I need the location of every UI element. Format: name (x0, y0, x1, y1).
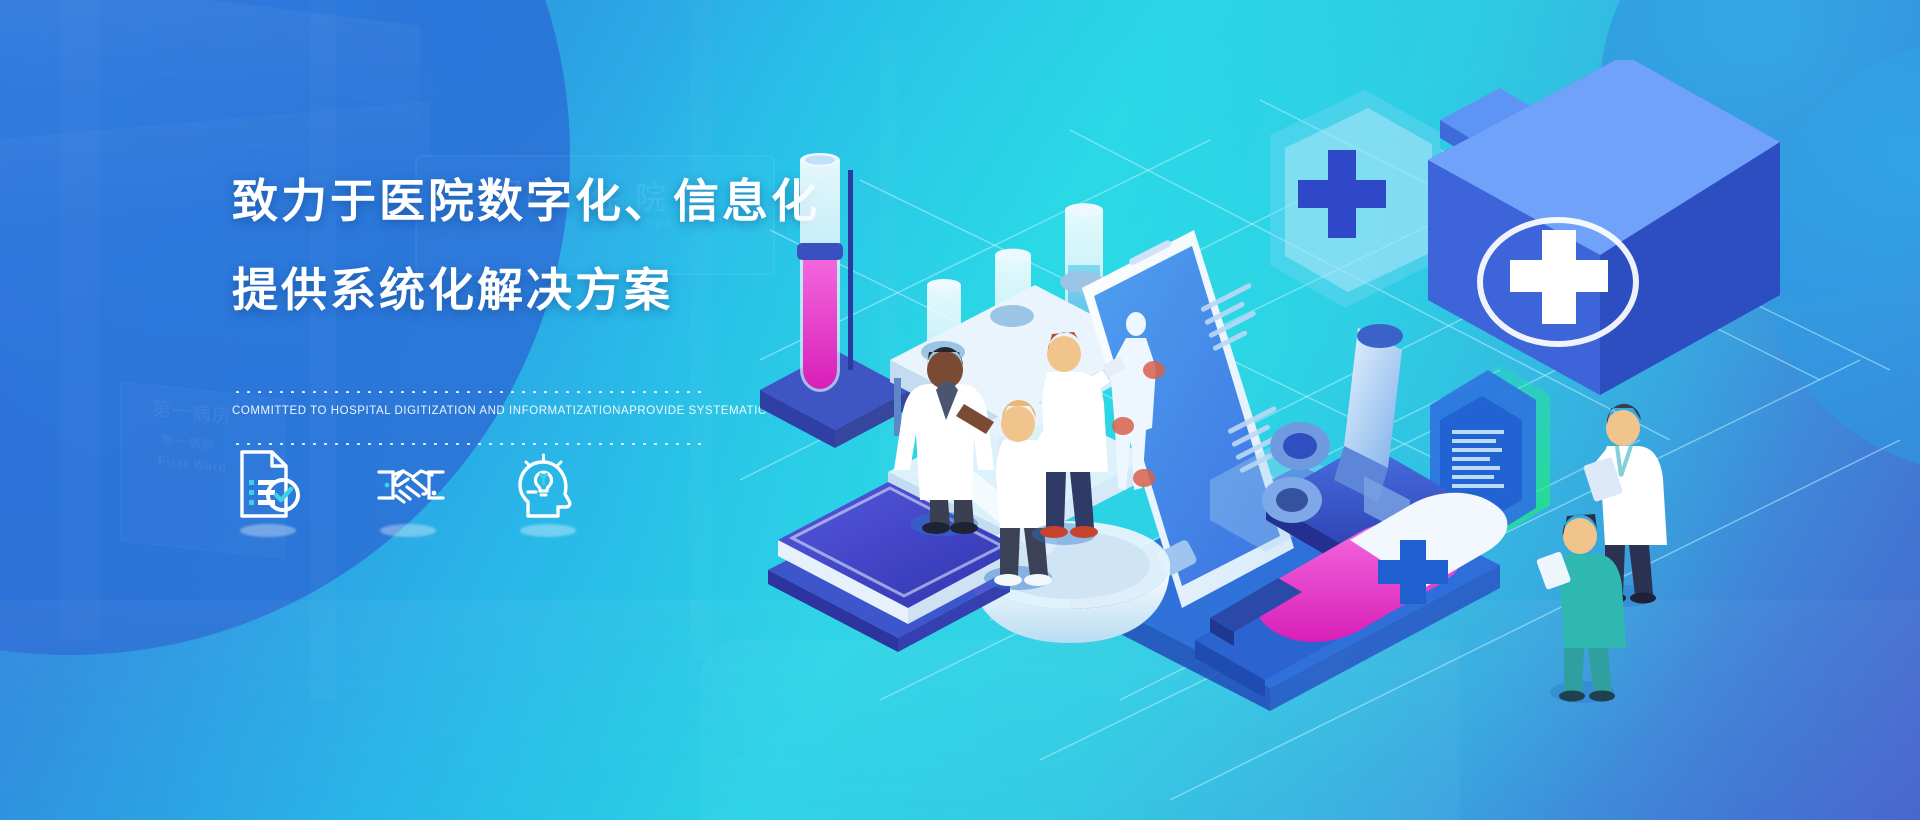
head-lightbulb-icon (516, 448, 580, 522)
corridor-pillar-a (60, 0, 100, 640)
medical-briefcase (1428, 60, 1780, 395)
hero-banner: 7F 住院部 Inpatient Department 第一病房 第一病房 Fi… (0, 0, 1920, 820)
feature-icon-row (232, 448, 584, 540)
document-check-icon (236, 448, 300, 522)
feature-item-handshake[interactable] (372, 448, 444, 540)
isometric-medical-illustration (740, 60, 1920, 820)
handshake-icon (376, 448, 446, 522)
feature-shadow (240, 524, 296, 537)
feature-item-document-check[interactable] (232, 448, 304, 540)
feature-shadow (380, 524, 436, 537)
tube-large (797, 153, 843, 392)
dotted-divider-bottom (232, 443, 708, 445)
feature-shadow (520, 524, 576, 537)
medical-cross-card (1270, 90, 1440, 308)
feature-item-innovation[interactable] (512, 448, 584, 540)
dotted-divider-top (232, 391, 708, 393)
test-tube-stand (760, 153, 910, 448)
